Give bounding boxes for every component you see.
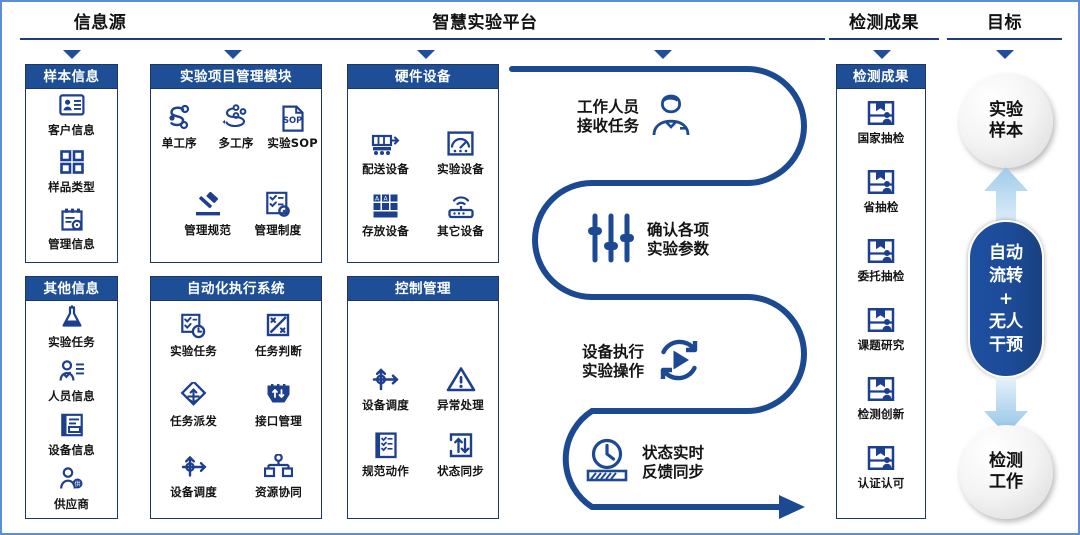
goal-circle-detection[interactable]: 检测工作 [959,425,1053,519]
tile-item[interactable]: 供 供应商 [26,464,117,518]
tile-label: 样品类型 [48,179,95,195]
svg-text:SOP: SOP [283,115,302,125]
tile-item[interactable]: 国家抽检 [837,98,925,164]
panel-detection-results[interactable]: 检测成果 国家抽检 省抽检 [836,64,926,519]
interface-arrows-icon [265,381,292,411]
spec-checklist-icon [374,431,398,461]
tile-item[interactable]: 样品类型 [26,147,117,204]
tile-label: 任务判断 [255,343,302,359]
flow-step-label: 状态实时反馈同步 [642,444,704,482]
gauge-meter-icon [447,129,474,159]
goal-circle-label: 检测工作 [989,451,1023,493]
report-badge-icon [867,98,895,128]
tile-item[interactable]: 资源协同 [236,452,321,514]
panel-title: 检测成果 [837,65,925,89]
flow-step-confirm-param[interactable]: 确认各项实验参数 [585,212,709,268]
automation-pill-label: 自动 流转 + 无人 干预 [989,242,1023,357]
chevron-down-icon [873,50,891,59]
tile-label: 检测创新 [858,406,905,422]
chevron-down-icon [417,50,435,59]
device-list-icon [60,410,84,440]
warning-triangle-icon [446,365,476,395]
dispatch-diamond-icon [179,381,208,411]
tile-label: 单工序 [162,135,197,151]
tile-item[interactable]: 实验任务 [151,311,236,373]
task-clock-icon [180,311,207,341]
goal-circle-label: 实验样本 [989,100,1023,142]
panel-body: 单工序 多工序 SOP 实验SOP [151,89,321,262]
column-header-platform: 智慧实验平台 [145,10,825,40]
tile-label: 设备调度 [170,484,217,500]
panel-body: 国家抽检 省抽检 委托抽检 [837,89,925,518]
tile-label: 实验SOP [267,135,318,151]
tile-label: 实验设备 [437,161,484,177]
tile-label: 省抽检 [863,199,898,215]
automation-pill[interactable]: 自动 流转 + 无人 干预 [968,220,1044,378]
grid-squares-icon [60,147,84,177]
chevron-down-icon [224,50,242,59]
tile-label: 实验任务 [48,334,95,350]
storage-rack-icon: AA [372,191,399,221]
panel-body: 实验任务 任务判断 任务派发 [151,301,321,518]
sop-document-icon: SOP [281,103,305,133]
tile-item[interactable]: 单工序 [151,103,208,161]
chevron-down-icon [63,50,81,59]
tile-label: 配送设备 [362,161,409,177]
panel-title: 硬件设备 [348,65,498,89]
tile-item[interactable]: 实验任务 [26,302,117,356]
staff-person-icon [649,92,693,142]
tile-label: 管理信息 [48,236,95,252]
multi-process-icon [221,103,251,133]
clipboard-gear-icon [60,204,84,234]
flow-step-receive-task[interactable]: 工作人员接收任务 [577,92,693,142]
tile-label: 国家抽检 [858,130,905,146]
tile-label: 异常处理 [437,397,484,413]
person-check-icon [59,356,85,386]
tile-label: 委托抽检 [858,268,905,284]
tile-item[interactable]: SOP 实验SOP [264,103,321,161]
tile-item[interactable]: 任务判断 [236,311,321,373]
panel-body: 客户信息 样品类型 管理信息 [26,89,117,262]
panel-title: 样本信息 [26,65,117,89]
diagram-canvas: 信息源 智慧实验平台 检测成果 目标 样本信息 客户信息 [0,0,1080,535]
tile-label: 设备调度 [362,397,409,413]
report-badge-icon [867,443,895,473]
tile-item[interactable]: 配送设备 [348,129,423,191]
tile-item[interactable]: 规范动作 [348,431,423,497]
scheduling-arrows-icon [370,365,401,395]
tile-label: 认证认可 [858,475,905,491]
tile-label: 供应商 [54,496,89,512]
tile-label: 人员信息 [48,388,95,404]
tile-item[interactable]: 其它设备 [423,191,498,253]
tile-item[interactable]: 设备调度 [348,365,423,431]
report-badge-icon [867,374,895,404]
tile-item[interactable]: 实验设备 [423,129,498,191]
report-badge-icon [867,236,895,266]
tile-label: 管理规范 [184,222,231,238]
report-badge-icon [867,167,895,197]
tile-label: 状态同步 [437,463,484,479]
flow-step-label: 设备执行实验操作 [582,343,644,381]
tile-item[interactable]: 管理规范 [179,190,236,248]
tile-label: 多工序 [218,135,253,151]
flow-step-label: 确认各项实验参数 [647,221,709,259]
clock-progress-icon [582,437,632,489]
panel-control-mgmt[interactable]: 控制管理 设备调度 异常处理 [347,276,499,519]
panel-title: 控制管理 [348,277,498,301]
flask-icon [60,302,84,332]
header-rule [829,38,939,40]
checklist-gear-icon [265,190,291,220]
tile-label: 其它设备 [437,223,484,239]
tile-label: 规范动作 [362,463,409,479]
panel-title: 实验项目管理模块 [151,65,321,89]
router-wifi-icon [447,191,475,221]
column-header-title: 目标 [947,10,1062,36]
tile-label: 客户信息 [48,122,95,138]
tile-label: 存放设备 [362,223,409,239]
tile-item[interactable]: 客户信息 [26,90,117,147]
flow-step-execute-op[interactable]: 设备执行实验操作 [582,335,704,389]
column-header-title: 检测成果 [829,10,939,36]
tile-item[interactable]: 异常处理 [423,365,498,431]
tile-item[interactable]: 认证认可 [837,443,925,509]
tile-label: 实验任务 [170,343,217,359]
tile-label: 课题研究 [858,337,905,353]
panel-body: 配送设备 实验设备 AA 存放设备 [348,89,498,262]
tile-label: 任务派发 [170,413,217,429]
tile-item[interactable]: 委托抽检 [837,236,925,302]
flow-step-label: 工作人员接收任务 [577,98,639,136]
tile-item[interactable]: 多工序 [208,103,265,161]
column-header-title: 智慧实验平台 [145,10,825,36]
tile-item[interactable]: 接口管理 [236,381,321,443]
gavel-icon [192,190,224,220]
tile-item[interactable]: 任务派发 [151,381,236,443]
chevron-down-icon [996,50,1014,59]
panel-sample-info[interactable]: 样本信息 客户信息 样品类型 [25,64,118,263]
tile-label: 接口管理 [255,413,302,429]
tile-label: 资源协同 [255,484,302,500]
id-card-icon [59,90,85,120]
supplier-person-icon: 供 [59,464,85,494]
conveyor-icon [371,129,401,159]
report-badge-icon [867,305,895,335]
tile-item[interactable]: 人员信息 [26,356,117,410]
goal-circle-sample[interactable]: 实验样本 [959,74,1053,168]
judge-xmark-icon [266,311,291,341]
tile-item[interactable]: 检测创新 [837,374,925,440]
column-header-results: 检测成果 [829,10,939,40]
tile-item[interactable]: 设备信息 [26,410,117,464]
scheduling-arrows-icon [179,452,209,482]
resource-network-icon [264,452,293,482]
tile-item[interactable]: 省抽检 [837,167,925,233]
panel-hardware[interactable]: 硬件设备 配送设备 实验设备 AA [347,64,499,263]
tile-label: 设备信息 [48,442,95,458]
sliders-icon [585,212,637,268]
play-refresh-icon [654,335,704,389]
panel-title: 自动化执行系统 [151,277,321,301]
panel-auto-exec[interactable]: 自动化执行系统 实验任务 任务判断 [150,276,322,519]
tile-item[interactable]: 课题研究 [837,305,925,371]
sync-updown-icon [448,431,474,461]
svg-text:供: 供 [74,480,80,488]
column-header-goal: 目标 [947,10,1062,40]
tile-item[interactable]: AA 存放设备 [348,191,423,253]
header-rule [145,38,825,40]
panel-body: 实验任务 人员信息 设备信息 供 [26,301,117,518]
single-process-icon [164,103,194,133]
panel-body: 设备调度 异常处理 规范动作 [348,301,498,518]
process-flow: 工作人员接收任务 确认各项实验参数 设备执行实验操作 [507,52,827,527]
tile-label: 管理制度 [255,222,302,238]
tile-item[interactable]: 设备调度 [151,452,236,514]
panel-project-module[interactable]: 实验项目管理模块 单工序 多工序 SOP [150,64,322,263]
tile-item[interactable]: 管理制度 [250,190,307,248]
flow-step-status-sync[interactable]: 状态实时反馈同步 [582,437,704,489]
header-rule [947,38,1062,40]
panel-title: 其他信息 [26,277,117,301]
tile-item[interactable]: 状态同步 [423,431,498,497]
panel-other-info[interactable]: 其他信息 实验任务 人员信息 [25,276,118,519]
tile-item[interactable]: 管理信息 [26,204,117,261]
